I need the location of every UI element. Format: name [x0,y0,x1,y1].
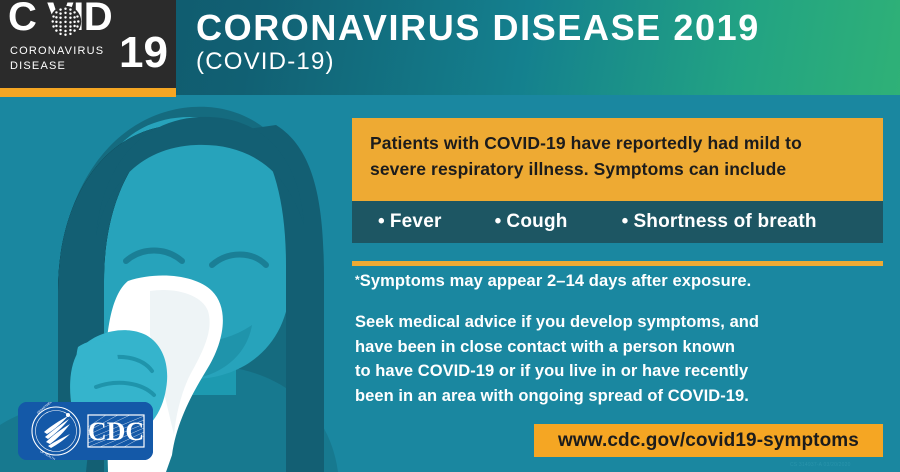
url-label: www.cdc.gov/covid19-symptoms [558,430,859,452]
advice-line3: to have COVID-19 or if you live in or ha… [355,359,895,384]
cdc-wordmark-text: CDC [88,417,144,446]
cdc-logo: DEPARTMENT OF HEALTH CDC [18,402,153,460]
advice-line2: have been in close contact with a person… [355,335,895,360]
page-title: CORONAVIRUS DISEASE 2019 [196,10,760,46]
cdc-wordmark-box: CDC [88,415,144,447]
advice-line4: been in an area with ongoing spread of C… [355,384,895,409]
covid-number: 19 [119,31,168,75]
symptom-fever: •Fever [378,211,442,233]
orange-divider [352,261,883,266]
symptom-cough: •Cough [495,211,568,233]
callout-box: Patients with COVID-19 have reportedly h… [352,118,883,201]
callout-line1: Patients with COVID-19 have reportedly h… [370,130,867,156]
symptoms-bar: •Fever •Cough •Shortness of breath [352,201,883,243]
covid-infographic-poster: CORONAVIRUS DISEASE 2019 (COVID-19) C VI… [0,0,900,472]
symptom-label: Cough [506,211,567,232]
bullet-icon: • [378,211,385,232]
symptom-label: Fever [390,211,442,232]
virus-sphere-icon [49,5,82,38]
incubation-note: *Symptoms may appear 2–14 days after exp… [355,272,895,291]
advice-line1: Seek medical advice if you develop sympt… [355,310,895,335]
covid-logo-caption-line2: DISEASE [10,59,104,74]
asterisk-icon: * [355,273,360,287]
covid-logo-caption: CORONAVIRUS DISEASE [10,44,104,74]
logo-accent-bar [0,88,176,97]
symptom-label: Shortness of breath [633,211,816,232]
symptom-shortness-of-breath: •Shortness of breath [622,211,817,233]
advice-paragraph: Seek medical advice if you develop sympt… [355,310,895,408]
url-button[interactable]: www.cdc.gov/covid19-symptoms [534,424,883,457]
covid19-logo-block: C VID 19 CORONAVIRU [0,0,176,88]
bullet-icon: • [495,211,502,232]
covid-logo-caption-line1: CORONAVIRUS [10,44,104,59]
page-subtitle: (COVID-19) [196,50,335,74]
bullet-icon: • [622,211,629,232]
publication-code: CS 314937-A 03/20/2020 [790,462,890,470]
incubation-note-text: Symptoms may appear 2–14 days after expo… [360,272,752,290]
callout-line2: severe respiratory illness. Symptoms can… [370,156,867,182]
